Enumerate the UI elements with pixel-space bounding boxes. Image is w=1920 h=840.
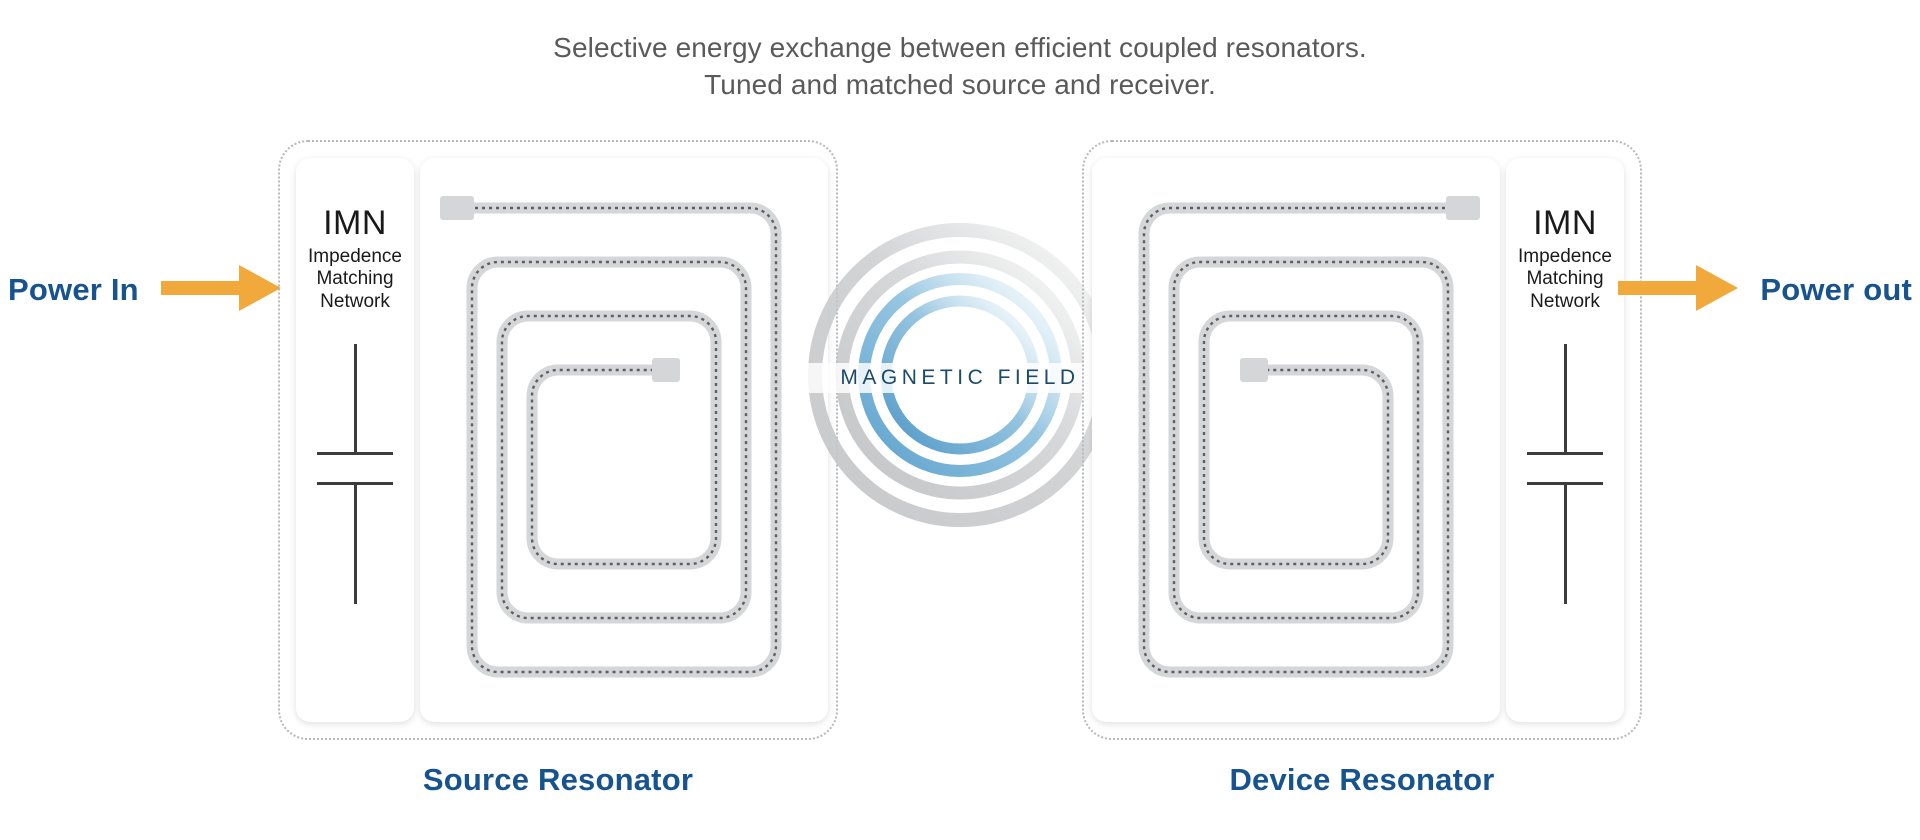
source-imn-line-3: Network xyxy=(296,291,414,313)
device-coil-card xyxy=(1092,158,1500,722)
source-imn-text: IMN Impedence Matching Network xyxy=(296,206,414,313)
source-imn-expansion: Impedence Matching Network xyxy=(296,246,414,313)
power-in-label: Power In xyxy=(8,272,139,308)
capacitor-lead-top xyxy=(1564,344,1567,452)
capacitor-icon xyxy=(1527,344,1603,604)
source-imn-card: IMN Impedence Matching Network xyxy=(296,158,414,722)
caption-line-1: Selective energy exchange between effici… xyxy=(0,30,1920,67)
device-imn-line-1: Impedence xyxy=(1506,246,1624,268)
arrow-right-icon xyxy=(1618,261,1738,320)
arrow-right-icon xyxy=(161,261,281,320)
device-imn-expansion: Impedence Matching Network xyxy=(1506,246,1624,313)
coil-terminal-outer xyxy=(1446,196,1480,220)
power-out-group: Power out xyxy=(1618,263,1912,317)
capacitor-lead-bottom xyxy=(1564,484,1567,604)
device-resonator-title: Device Resonator xyxy=(1082,762,1642,798)
source-imn-abbr: IMN xyxy=(296,206,414,242)
caption-line-2: Tuned and matched source and receiver. xyxy=(0,67,1920,104)
spiral-coil-icon xyxy=(1092,158,1500,722)
power-in-group: Power In xyxy=(8,263,281,317)
magnetic-field-group: MAGNETIC FIELD xyxy=(800,215,1120,535)
source-resonator: IMN Impedence Matching Network xyxy=(278,140,838,740)
capacitor-lead-bottom xyxy=(354,484,357,604)
coil-terminal-inner xyxy=(652,358,680,382)
spiral-coil-icon xyxy=(420,158,828,722)
device-imn-line-2: Matching xyxy=(1506,268,1624,290)
coil-terminal-inner xyxy=(1240,358,1268,382)
coil-terminal-outer xyxy=(440,196,474,220)
capacitor-plate-upper xyxy=(1527,452,1603,455)
device-resonator: IMN Impedence Matching Network xyxy=(1082,140,1642,740)
device-imn-card: IMN Impedence Matching Network xyxy=(1506,158,1624,722)
source-imn-line-2: Matching xyxy=(296,268,414,290)
capacitor-plate-upper xyxy=(317,452,393,455)
source-coil-card xyxy=(420,158,828,722)
diagram-caption: Selective energy exchange between effici… xyxy=(0,30,1920,104)
capacitor-icon xyxy=(317,344,393,604)
power-out-label: Power out xyxy=(1760,272,1912,308)
device-imn-text: IMN Impedence Matching Network xyxy=(1506,206,1624,313)
device-imn-abbr: IMN xyxy=(1506,206,1624,242)
magnetic-field-label: MAGNETIC FIELD xyxy=(800,363,1120,393)
source-imn-line-1: Impedence xyxy=(296,246,414,268)
capacitor-lead-top xyxy=(354,344,357,452)
device-imn-line-3: Network xyxy=(1506,291,1624,313)
source-resonator-title: Source Resonator xyxy=(278,762,838,798)
